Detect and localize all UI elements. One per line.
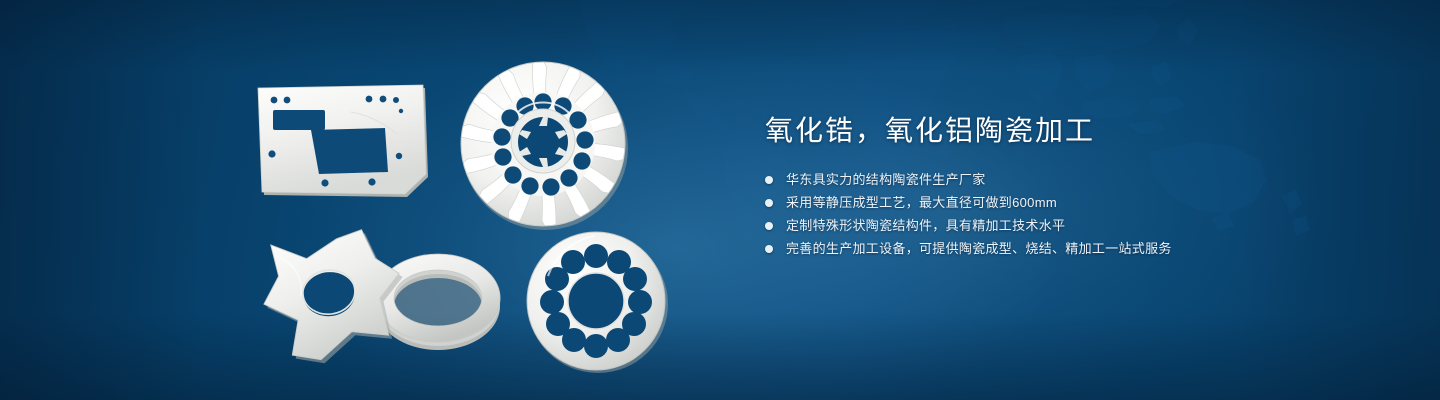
feature-list: 华东具实力的结构陶瓷件生产厂家 采用等静压成型工艺，最大直径可做到600mm 定… — [765, 168, 1385, 260]
feature-text: 采用等静压成型工艺，最大直径可做到600mm — [786, 191, 1057, 214]
product-collage — [0, 0, 720, 400]
ceramic-holed-disc — [522, 228, 670, 374]
feature-item: 华东具实力的结构陶瓷件生产厂家 — [765, 168, 1385, 191]
bullet-dot-icon — [765, 222, 773, 230]
feature-item: 完善的生产加工设备，可提供陶瓷成型、烧结、精加工一站式服务 — [765, 237, 1385, 260]
bullet-dot-icon — [765, 199, 773, 207]
bullet-dot-icon — [765, 176, 773, 184]
feature-text: 完善的生产加工设备，可提供陶瓷成型、烧结、精加工一站式服务 — [786, 237, 1172, 260]
banner-copy: 氧化锆，氧化铝陶瓷加工 华东具实力的结构陶瓷件生产厂家 采用等静压成型工艺，最大… — [765, 112, 1385, 260]
ceramic-cross-part — [252, 228, 512, 368]
banner-headline: 氧化锆，氧化铝陶瓷加工 — [765, 112, 1385, 150]
bullet-dot-icon — [765, 245, 773, 253]
feature-text: 华东具实力的结构陶瓷件生产厂家 — [786, 168, 986, 191]
ceramic-rings — [376, 254, 500, 350]
ceramic-plate — [255, 82, 430, 197]
ceramic-impeller — [452, 56, 634, 234]
feature-item: 采用等静压成型工艺，最大直径可做到600mm — [765, 191, 1385, 214]
promo-banner: 氧化锆，氧化铝陶瓷加工 华东具实力的结构陶瓷件生产厂家 采用等静压成型工艺，最大… — [0, 0, 1440, 400]
feature-text: 定制特殊形状陶瓷结构件，具有精加工技术水平 — [786, 214, 1065, 237]
feature-item: 定制特殊形状陶瓷结构件，具有精加工技术水平 — [765, 214, 1385, 237]
